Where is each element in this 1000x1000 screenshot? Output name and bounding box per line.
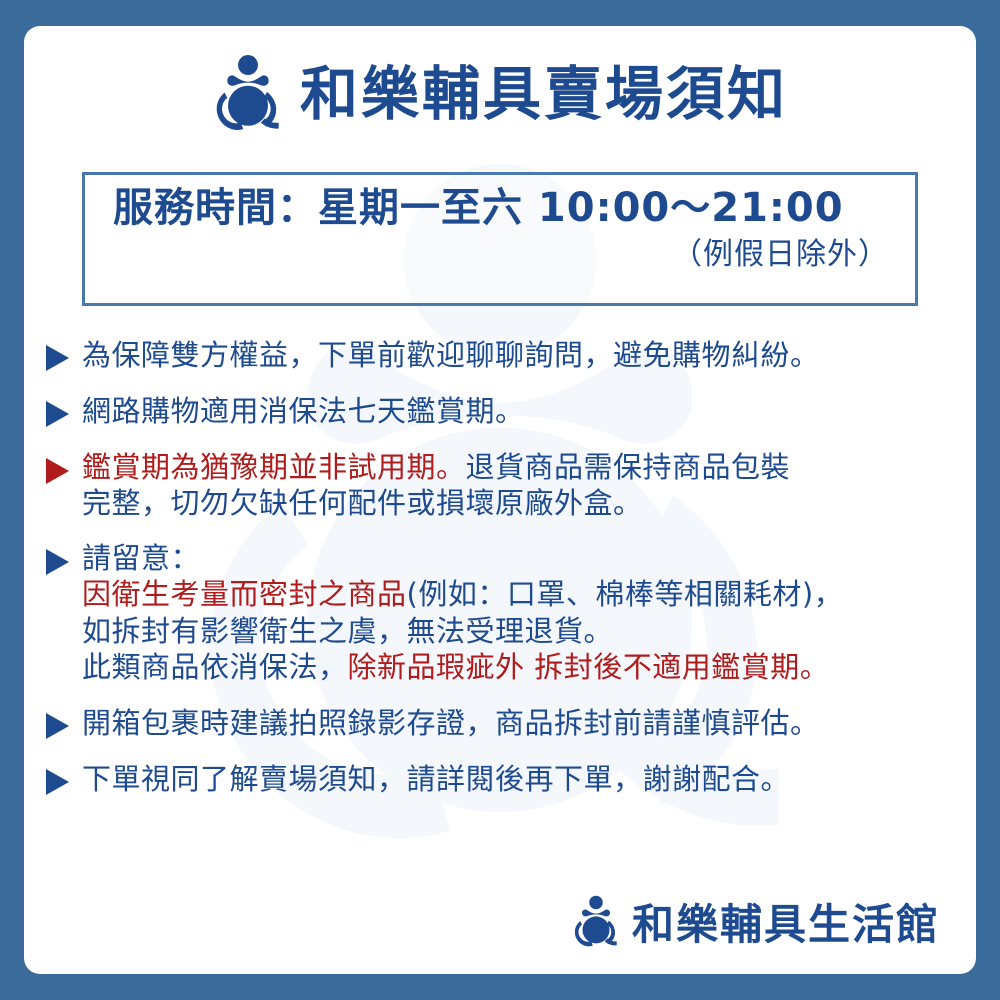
note-text: 請留意：因衛生考量而密封之商品(例如：口罩、棉棒等相關耗材)，如拆封有影響衛生之… (82, 540, 976, 686)
note-item: 下單視同了解賣場須知，請詳閱後再下單，謝謝配合。 (42, 760, 976, 798)
note-text-line: 為保障雙方權益，下單前歡迎聊聊詢問，避免購物糾紛。 (82, 336, 976, 374)
note-text-segment: 網路購物適用消保法七天鑑賞期。 (82, 394, 525, 428)
note-item: 開箱包裹時建議拍照錄影存證，商品拆封前請謹慎評估。 (42, 704, 976, 742)
brand-name: 和樂輔具生活館 (632, 891, 940, 952)
note-text-segment: 退貨商品需保持商品包裝 (466, 450, 791, 484)
notes-list: 為保障雙方權益，下單前歡迎聊聊詢問，避免購物糾紛。網路購物適用消保法七天鑑賞期。… (42, 336, 976, 816)
note-text-segment: 除新品瑕疵外 拆封後不適用鑑賞期。 (348, 650, 830, 684)
note-text-line: 網路購物適用消保法七天鑑賞期。 (82, 392, 976, 430)
wheelchair-person-logo-icon (572, 895, 620, 949)
triangle-bullet-icon (42, 455, 72, 487)
note-text-segment: 如拆封有影響衛生之虞，無法受理退貨。 (82, 614, 613, 648)
poster-root: 和樂輔具賣場須知 服務時間：星期一至六 10:00～21:00 （例假日除外） … (0, 0, 1000, 1000)
note-text-line: 請留意： (82, 540, 976, 577)
note-text-line: 下單視同了解賣場須知，請詳閱後再下單，謝謝配合。 (82, 760, 976, 798)
note-text: 網路購物適用消保法七天鑑賞期。 (82, 392, 976, 430)
poster-header: 和樂輔具賣場須知 (24, 54, 976, 134)
white-panel: 和樂輔具賣場須知 服務時間：星期一至六 10:00～21:00 （例假日除外） … (24, 26, 976, 974)
note-text-segment: 為保障雙方權益，下單前歡迎聊聊詢問，避免購物糾紛。 (82, 338, 820, 372)
service-hours-note: （例假日除外） (99, 237, 901, 273)
note-text-line: 完整，切勿欠缺任何配件或損壞原廠外盒。 (82, 485, 976, 522)
triangle-bullet-icon (42, 398, 72, 430)
note-text-segment: 下單視同了解賣場須知，請詳閱後再下單，謝謝配合。 (82, 762, 790, 796)
triangle-bullet-icon (42, 546, 72, 578)
note-text: 鑑賞期為猶豫期並非試用期。退貨商品需保持商品包裝完整，切勿欠缺任何配件或損壞原廠… (82, 449, 976, 522)
note-item: 請留意：因衛生考量而密封之商品(例如：口罩、棉棒等相關耗材)，如拆封有影響衛生之… (42, 540, 976, 686)
note-text: 為保障雙方權益，下單前歡迎聊聊詢問，避免購物糾紛。 (82, 336, 976, 374)
note-text-segment: 鑑賞期為猶豫期並非試用期。 (82, 450, 466, 484)
triangle-bullet-icon (42, 710, 72, 742)
note-text-segment: 開箱包裹時建議拍照錄影存證，商品拆封前請謹慎評估。 (82, 706, 820, 740)
note-text-line: 開箱包裹時建議拍照錄影存證，商品拆封前請謹慎評估。 (82, 704, 976, 742)
page-title: 和樂輔具賣場須知 (300, 65, 788, 123)
note-text-line: 鑑賞期為猶豫期並非試用期。退貨商品需保持商品包裝 (82, 449, 976, 486)
note-text-segment: 此類商品依消保法， (82, 650, 348, 684)
note-text-line: 因衛生考量而密封之商品(例如：口罩、棉棒等相關耗材)， (82, 576, 976, 613)
note-text-line: 如拆封有影響衛生之虞，無法受理退貨。 (82, 613, 976, 650)
service-hours-box: 服務時間：星期一至六 10:00～21:00 （例假日除外） (82, 172, 918, 306)
note-text-segment: 請留意： (82, 541, 200, 575)
service-hours-line: 服務時間：星期一至六 10:00～21:00 (99, 183, 901, 233)
note-item: 網路購物適用消保法七天鑑賞期。 (42, 392, 976, 430)
note-item: 鑑賞期為猶豫期並非試用期。退貨商品需保持商品包裝完整，切勿欠缺任何配件或損壞原廠… (42, 449, 976, 522)
triangle-bullet-icon (42, 766, 72, 798)
poster-footer: 和樂輔具生活館 (572, 891, 940, 952)
note-text-segment: 完整，切勿欠缺任何配件或損壞原廠外盒。 (82, 486, 643, 520)
note-text-segment: (例如：口罩、棉棒等相關耗材)， (407, 577, 844, 611)
note-text-line: 此類商品依消保法，除新品瑕疵外 拆封後不適用鑑賞期。 (82, 649, 976, 686)
note-text: 開箱包裹時建議拍照錄影存證，商品拆封前請謹慎評估。 (82, 704, 976, 742)
note-text: 下單視同了解賣場須知，請詳閱後再下單，謝謝配合。 (82, 760, 976, 798)
note-text-segment: 因衛生考量而密封之商品 (82, 577, 407, 611)
triangle-bullet-icon (42, 342, 72, 374)
note-item: 為保障雙方權益，下單前歡迎聊聊詢問，避免購物糾紛。 (42, 336, 976, 374)
wheelchair-person-logo-icon (212, 54, 284, 134)
